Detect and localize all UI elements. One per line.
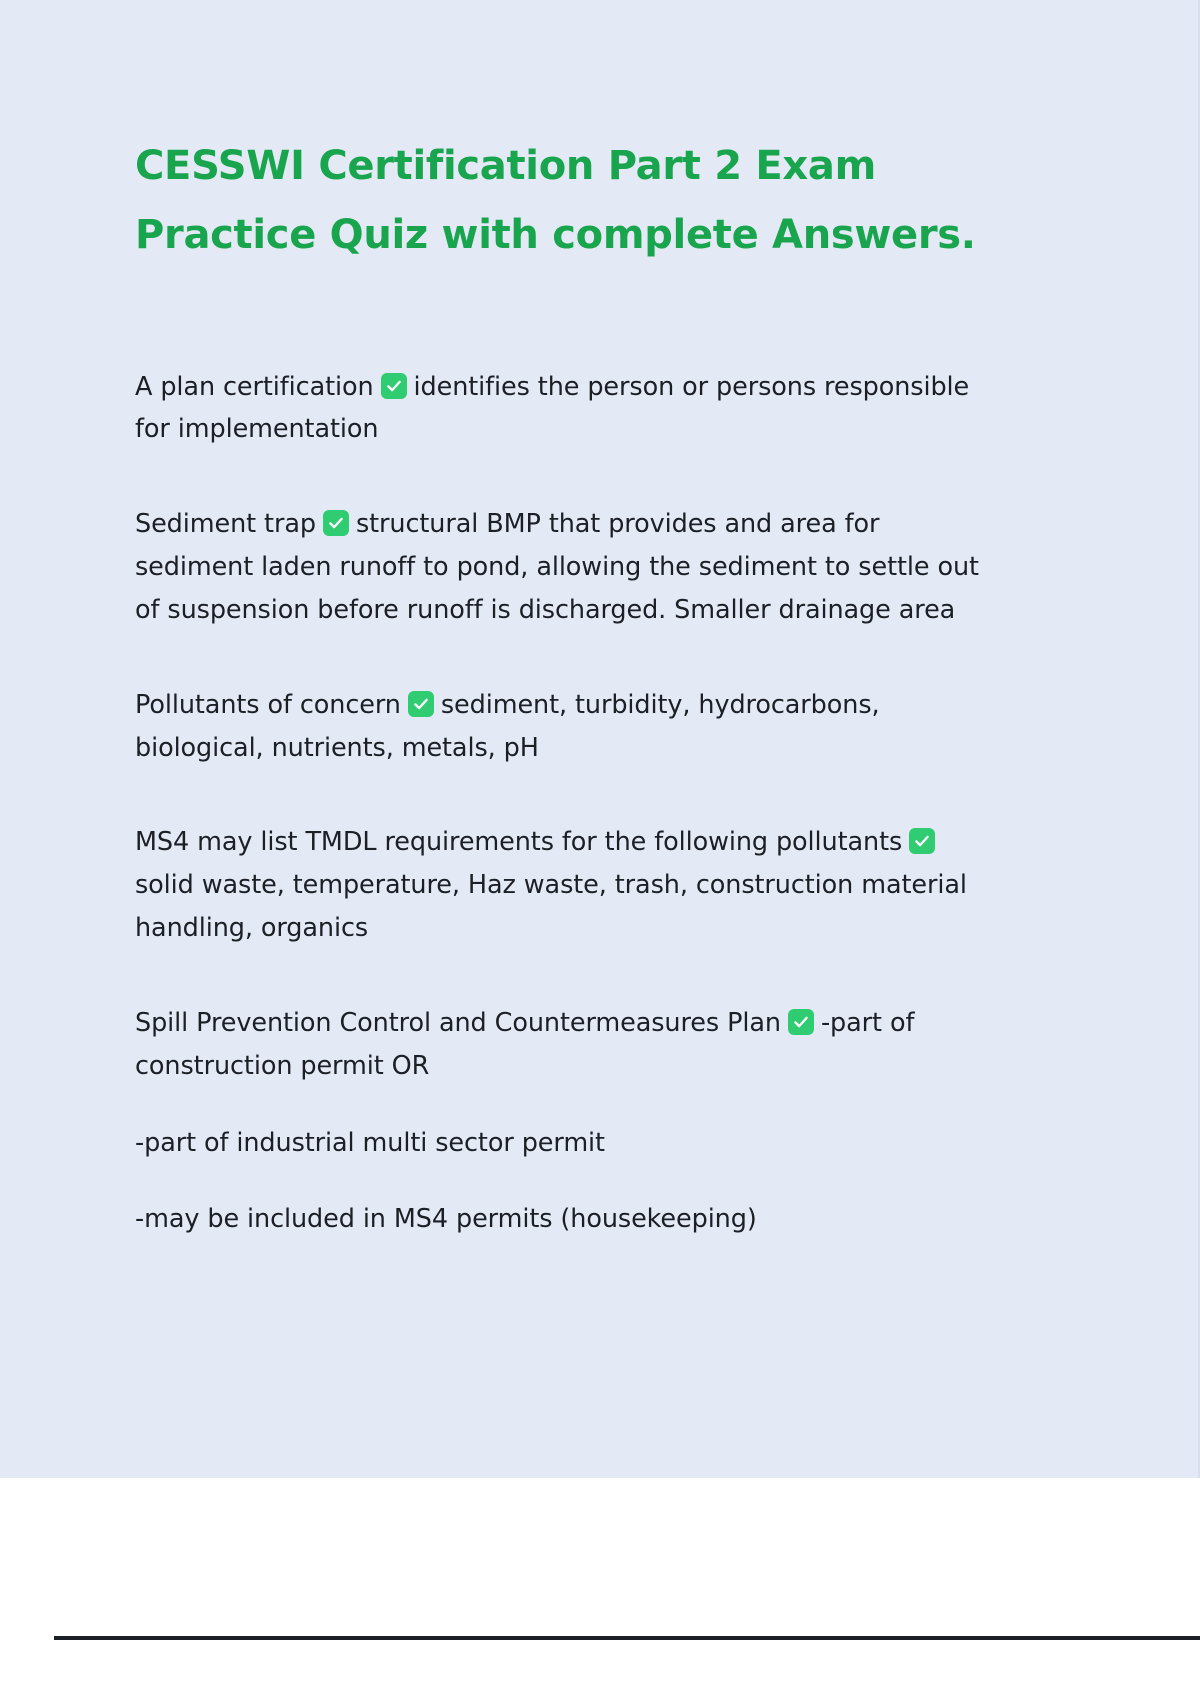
bottom-divider-rule bbox=[54, 1636, 1200, 1640]
qa-term: Sediment trap bbox=[135, 509, 316, 539]
bullet-line: -may be included in MS4 permits (houseke… bbox=[135, 1198, 995, 1241]
page-root: CESSWI Certification Part 2 Exam Practic… bbox=[0, 0, 1200, 1700]
qa-entry: Sediment trapstructural BMP that provide… bbox=[135, 503, 990, 631]
qa-term: A plan certification bbox=[135, 372, 374, 402]
qa-term: Spill Prevention Control and Countermeas… bbox=[135, 1008, 781, 1038]
qa-entry: A plan certificationidentifies the perso… bbox=[135, 366, 990, 452]
page-title: CESSWI Certification Part 2 Exam Practic… bbox=[135, 132, 995, 270]
bullet-line: -part of industrial multi sector permit bbox=[135, 1122, 995, 1165]
qa-definition: solid waste, temperature, Haz waste, tra… bbox=[135, 870, 967, 943]
green-check-box-icon bbox=[788, 1009, 814, 1035]
green-check-box-icon bbox=[408, 691, 434, 717]
qa-entry: Pollutants of concernsediment, turbidity… bbox=[135, 684, 990, 770]
bottom-white-band bbox=[0, 1478, 1200, 1700]
green-check-box-icon bbox=[381, 373, 407, 399]
green-check-box-icon bbox=[323, 510, 349, 536]
qa-term: MS4 may list TMDL requirements for the f… bbox=[135, 827, 902, 857]
document-sheet: CESSWI Certification Part 2 Exam Practic… bbox=[0, 0, 1200, 1478]
qa-list: A plan certificationidentifies the perso… bbox=[135, 366, 995, 1242]
qa-entry: Spill Prevention Control and Countermeas… bbox=[135, 1002, 990, 1088]
qa-entry: MS4 may list TMDL requirements for the f… bbox=[135, 821, 990, 949]
qa-term: Pollutants of concern bbox=[135, 690, 401, 720]
green-check-box-icon bbox=[909, 828, 935, 854]
document-content: CESSWI Certification Part 2 Exam Practic… bbox=[135, 132, 995, 1241]
